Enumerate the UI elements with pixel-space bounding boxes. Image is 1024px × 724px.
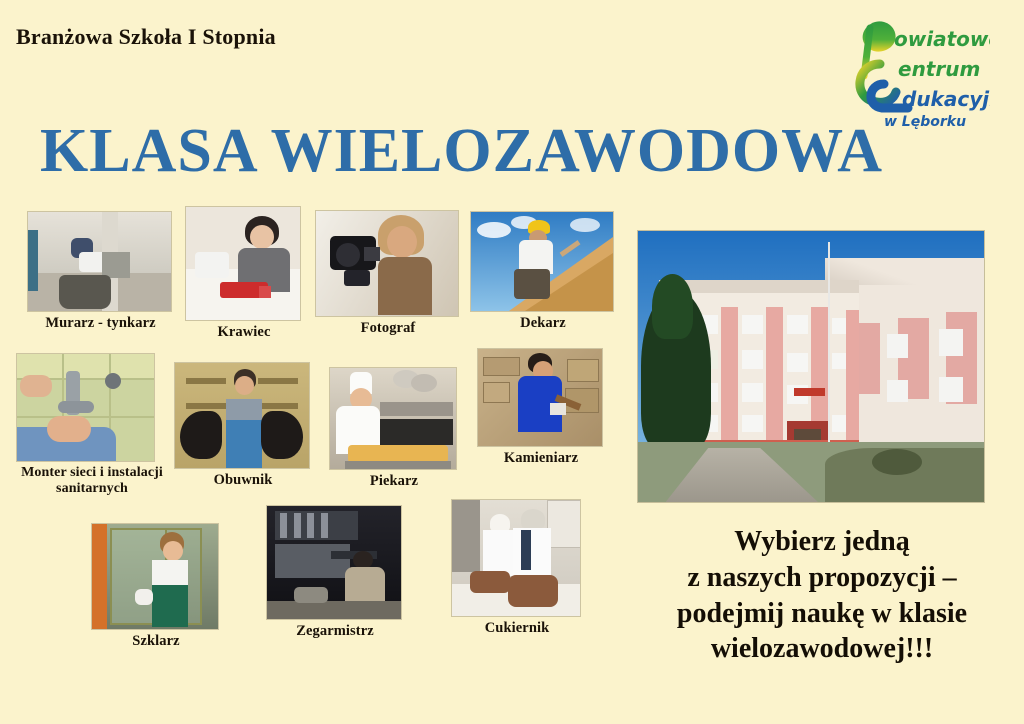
pce-logo: owiatowe entrum dukacyjne w Lęborku — [840, 10, 990, 132]
school-building-photo: P C E — [638, 231, 984, 502]
logo-line4: w Lęborku — [884, 114, 966, 130]
caption-photographer: Fotograf — [316, 320, 460, 336]
profession-card-stonemason: Kamieniarz — [478, 349, 604, 466]
cta-line-4: wielozawodowej!!! — [630, 631, 1014, 667]
caption-tailor: Krawiec — [186, 324, 302, 340]
profession-card-watchmaker: Zegarmistrz — [267, 506, 403, 639]
caption-stonemason: Kamieniarz — [478, 450, 604, 466]
profession-card-bricklayer-plasterer: Murarz - tynkarz — [28, 212, 173, 331]
caption-glazier: Szklarz — [92, 633, 220, 649]
photo-stonemason — [478, 349, 602, 446]
logo-line1: owiatowe — [894, 27, 990, 51]
profession-card-shoemaker: Obuwnik — [175, 363, 311, 488]
photo-photographer — [316, 211, 458, 316]
photo-bricklayer-plasterer — [28, 212, 171, 311]
cta-line-1: Wybierz jedną — [630, 524, 1014, 560]
profession-card-confectioner: Cukiernik — [452, 500, 582, 636]
call-to-action: Wybierz jedną z naszych propozycji – pod… — [630, 524, 1014, 667]
photo-watchmaker — [267, 506, 401, 619]
photo-sanitary-installer — [17, 354, 154, 461]
school-type-heading: Branżowa Szkoła I Stopnia — [16, 24, 276, 50]
caption-baker: Piekarz — [330, 473, 458, 489]
cta-line-2: z naszych propozycji – — [630, 560, 1014, 596]
logo-line2: entrum — [898, 57, 980, 81]
photo-baker — [330, 368, 456, 469]
caption-sanitary-installer: Monter sieci i instalacji sanitarnych — [17, 465, 167, 496]
cta-line-3: podejmij naukę w klasie — [630, 596, 1014, 632]
photo-shoemaker — [175, 363, 309, 468]
photo-tailor — [186, 207, 300, 320]
profession-card-sanitary-installer: Monter sieci i instalacji sanitarnych — [17, 354, 167, 496]
profession-card-baker: Piekarz — [330, 368, 458, 489]
caption-roofer: Dekarz — [471, 315, 615, 331]
caption-watchmaker: Zegarmistrz — [267, 623, 403, 639]
logo-line3: dukacyjne — [902, 87, 990, 111]
caption-confectioner: Cukiernik — [452, 620, 582, 636]
profession-card-tailor: Krawiec — [186, 207, 302, 340]
profession-card-roofer: Dekarz — [471, 212, 615, 331]
caption-shoemaker: Obuwnik — [175, 472, 311, 488]
caption-bricklayer-plasterer: Murarz - tynkarz — [28, 315, 173, 331]
photo-confectioner — [452, 500, 580, 616]
poster-root: Branżowa Szkoła I Stopnia KLASA WIELOZAW… — [0, 0, 1024, 724]
photo-roofer — [471, 212, 613, 311]
profession-card-glazier: Szklarz — [92, 524, 220, 649]
photo-glazier — [92, 524, 218, 629]
profession-card-photographer: Fotograf — [316, 211, 460, 336]
page-title: KLASA WIELOZAWODOWA — [40, 120, 883, 182]
